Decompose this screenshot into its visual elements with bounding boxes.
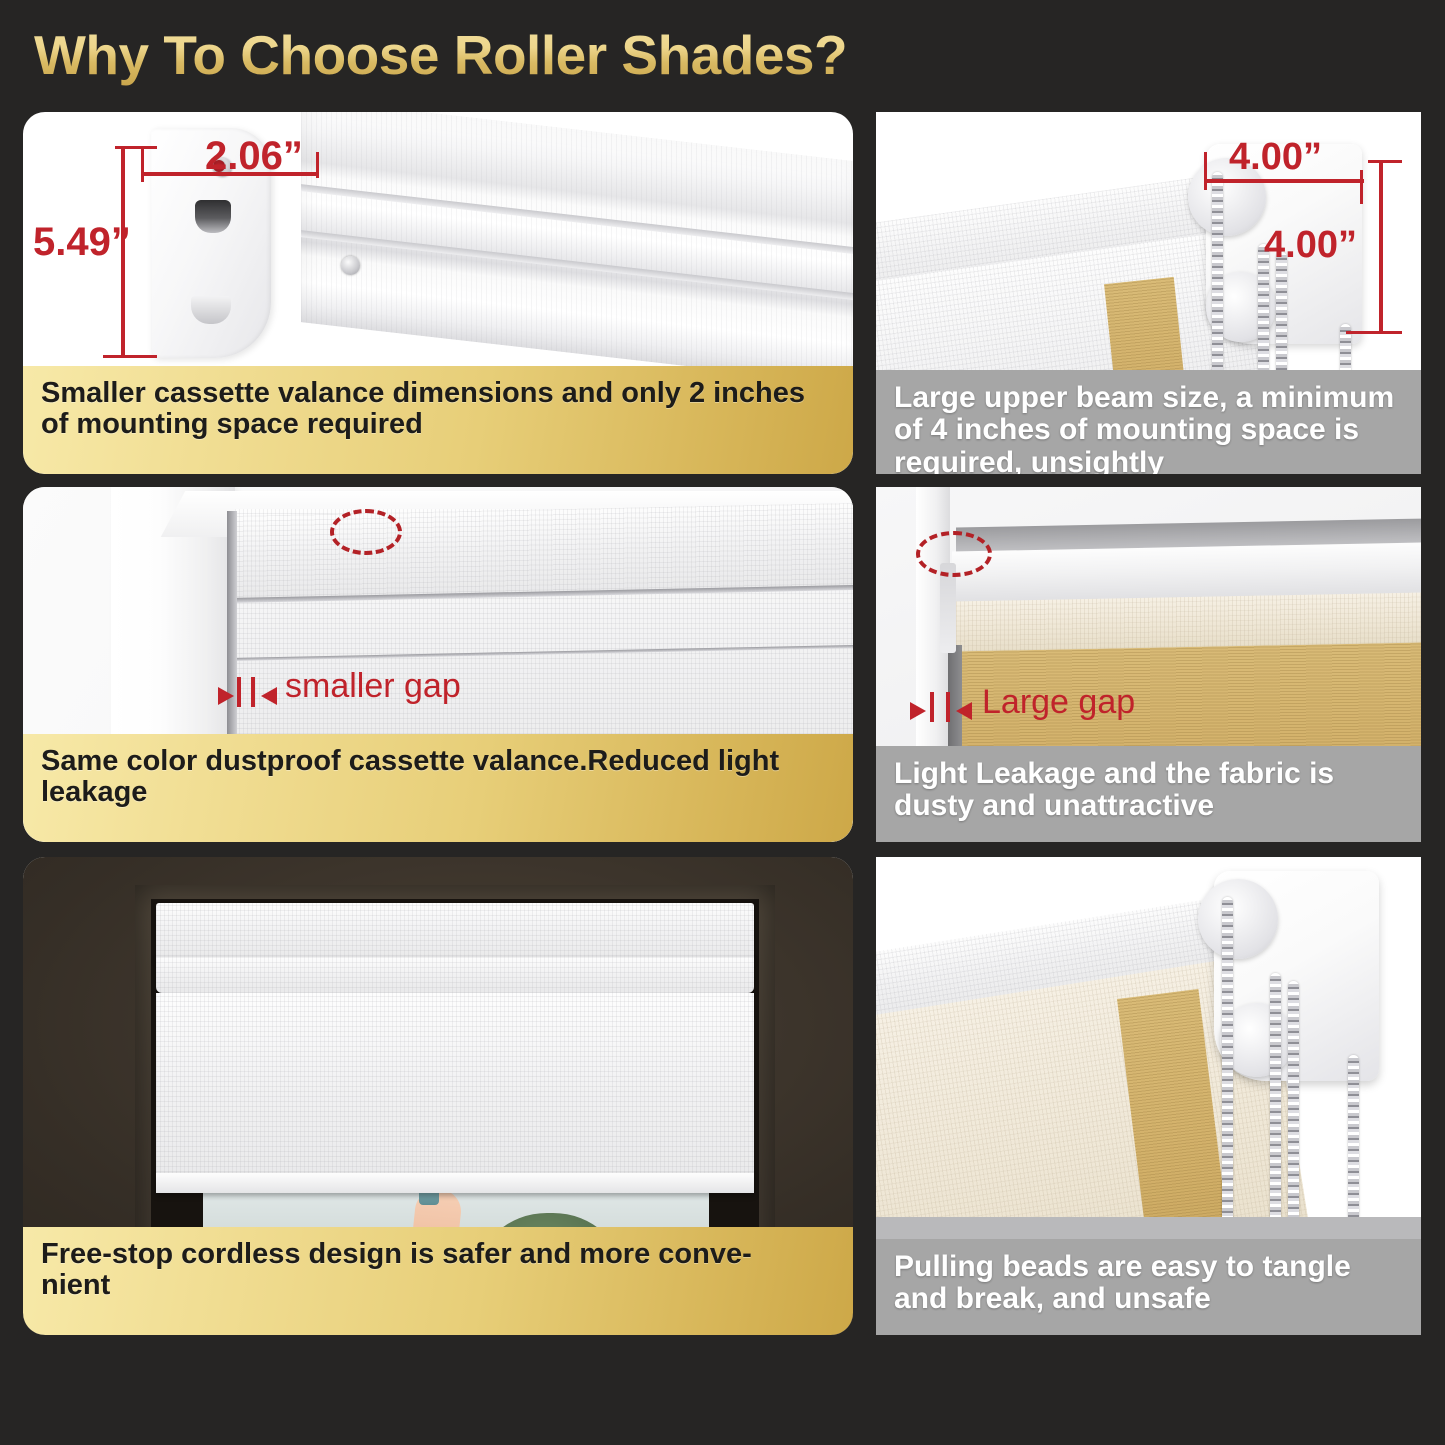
dim-tick-width-right [316, 152, 319, 178]
dim-tick-beam-bottom [1346, 331, 1402, 334]
caption-pro-cordless-design: Free-stop cordless design is safer and m… [23, 1227, 853, 1335]
panel-pro-dustproof-valance: smaller gap Same color dustproof cassett… [23, 487, 853, 842]
infographic-root: Why To Choose Roller Shades? 2.06” 5.49”… [0, 0, 1445, 1445]
dim-label-width: 2.06” [205, 134, 303, 179]
valance-body [301, 112, 853, 386]
panel-con-pulling-beads: Pulling beads are easy to tangle and bre… [876, 857, 1421, 1335]
caption-con-large-beam: Large upper beam size, a minimum of 4 in… [876, 370, 1421, 474]
gap-arrow-right-icon [261, 687, 277, 705]
gap-tick-left [930, 692, 934, 722]
gap-arrow-left-icon [218, 687, 234, 705]
bottom-rail [156, 1173, 754, 1193]
screw-mid-icon [341, 256, 360, 275]
dim-line-beam-height [1379, 160, 1383, 334]
dim-tick-beam-right [1360, 170, 1363, 204]
dim-label-beam-width: 4.00” [1229, 136, 1322, 179]
gap-label-large: Large gap [982, 683, 1135, 722]
dim-label-beam-height: 4.00” [1264, 224, 1357, 267]
panel-con-light-leakage: Large gap Light Leakage and the fabric i… [876, 487, 1421, 842]
dim-line-beam-width [1204, 179, 1364, 183]
highlight-ellipse-gap [916, 531, 992, 577]
panel-con-large-beam: 4.00” 4.00” Large upper beam size, a min… [876, 112, 1421, 474]
caption-con-light-leakage: Light Leakage and the fabric is dusty an… [876, 746, 1421, 842]
gap-tick-left [237, 677, 241, 707]
page-title: Why To Choose Roller Shades? [34, 23, 847, 87]
dim-tick-height-top [115, 146, 157, 149]
dim-tick-beam-left [1204, 152, 1207, 190]
caption-pro-dustproof-valance: Same color dustproof cassette valance.Re… [23, 734, 853, 842]
gap-arrow-right-icon [956, 702, 972, 720]
panel-pro-cassette-size: 2.06” 5.49” Smaller cassette valance dim… [23, 112, 853, 474]
valance-slot [195, 200, 231, 233]
gap-tick-right [251, 677, 255, 707]
gap-tick-right [946, 692, 950, 722]
caption-line-2: nient [41, 1269, 110, 1301]
gap-arrow-left-icon [910, 702, 926, 720]
caption-con-pulling-beads: Pulling beads are easy to tangle and bre… [876, 1239, 1421, 1335]
gap-label-smaller: smaller gap [285, 667, 461, 706]
valance-lower-rail [156, 957, 754, 993]
dim-tick-beam-top [1368, 160, 1402, 163]
floor-strip [876, 1217, 1421, 1239]
shade-fabric [156, 993, 754, 1187]
caption-line-1: Free-stop cordless design is safer and m… [41, 1238, 752, 1270]
dim-label-height: 5.49” [33, 220, 131, 265]
dim-tick-height-bottom [103, 355, 157, 358]
clutch-wheel-upper [1198, 879, 1278, 959]
dim-tick-width-left [141, 148, 144, 182]
panel-pro-cordless-design: Free-stop cordless design is safer and m… [23, 857, 853, 1335]
cassette-valance [156, 903, 754, 961]
caption-pro-cassette-size: Smaller cassette valance dimensions and … [23, 366, 853, 474]
fabric-cream-band [952, 592, 1421, 651]
highlight-ellipse-gap [330, 509, 402, 555]
